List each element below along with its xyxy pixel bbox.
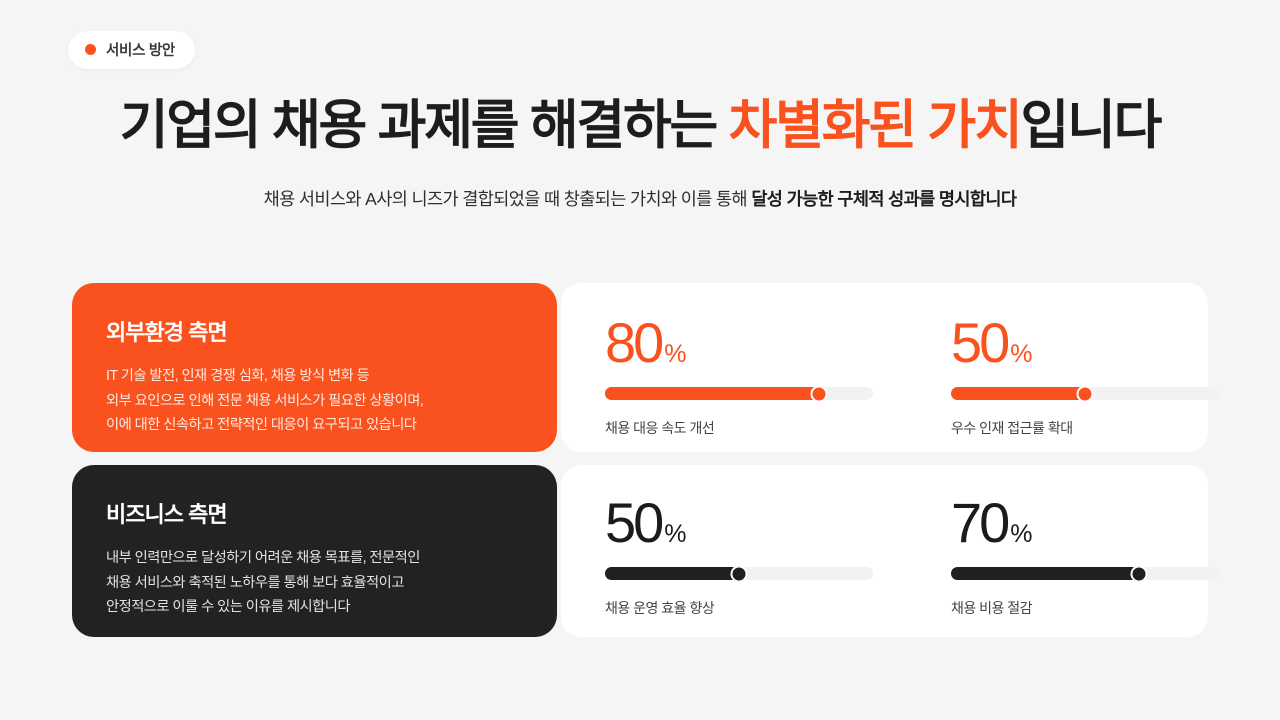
stat-label: 채용 비용 절감 bbox=[951, 598, 1219, 618]
stat-percent-symbol: % bbox=[664, 522, 685, 547]
panel-body-line: IT 기술 발전, 인재 경쟁 심화, 채용 방식 변화 등 bbox=[106, 364, 523, 389]
stat-number: 50 % bbox=[951, 315, 1219, 371]
progress-fill bbox=[605, 387, 819, 400]
panel-body: 내부 인력만으로 달성하기 어려운 채용 목표를, 전문적인 채용 서비스와 축… bbox=[106, 546, 523, 620]
stat-value: 80 bbox=[605, 315, 661, 371]
panel-body: IT 기술 발전, 인재 경쟁 심화, 채용 방식 변화 등 외부 요인으로 인… bbox=[106, 364, 523, 438]
slide-root: 서비스 방안 기업의 채용 과제를 해결하는 차별화된 가치입니다 채용 서비스… bbox=[0, 0, 1280, 720]
stat-value: 50 bbox=[951, 315, 1007, 371]
subtitle-normal: 채용 서비스와 A사의 니즈가 결합되었을 때 창출되는 가치와 이를 통해 bbox=[264, 189, 752, 209]
progress-fill bbox=[605, 567, 739, 580]
headline-highlight: 차별화된 가치 bbox=[729, 96, 1021, 155]
progress-bar bbox=[605, 387, 873, 400]
page-subtitle: 채용 서비스와 A사의 니즈가 결합되었을 때 창출되는 가치와 이를 통해 달… bbox=[0, 186, 1280, 211]
stat-item: 50 % 우수 인재 접근률 확대 bbox=[907, 283, 1253, 452]
progress-knob bbox=[1077, 385, 1094, 402]
progress-bar bbox=[951, 567, 1219, 580]
stat-label: 채용 대응 속도 개선 bbox=[605, 418, 873, 438]
progress-fill bbox=[951, 387, 1085, 400]
stat-item: 70 % 채용 비용 절감 bbox=[907, 465, 1253, 637]
panel-business: 비즈니스 측면 내부 인력만으로 달성하기 어려운 채용 목표를, 전문적인 채… bbox=[72, 465, 557, 637]
stat-number: 50 % bbox=[605, 495, 873, 551]
stat-card-top: 80 % 채용 대응 속도 개선 50 % 우수 인재 접근률 확대 bbox=[561, 283, 1208, 452]
stat-percent-symbol: % bbox=[1010, 342, 1031, 367]
badge-dot-icon bbox=[85, 44, 96, 55]
panel-body-line: 안정적으로 이룰 수 있는 이유를 제시합니다 bbox=[106, 595, 523, 620]
panel-title: 외부환경 측면 bbox=[106, 315, 523, 347]
progress-knob bbox=[731, 565, 748, 582]
stat-percent-symbol: % bbox=[1010, 522, 1031, 547]
panel-body-line: 이에 대한 신속하고 전략적인 대응이 요구되고 있습니다 bbox=[106, 413, 523, 438]
panel-title: 비즈니스 측면 bbox=[106, 497, 523, 529]
stat-label: 우수 인재 접근률 확대 bbox=[951, 418, 1219, 438]
headline-part2: 입니다 bbox=[1021, 96, 1161, 155]
panel-body-line: 채용 서비스와 축적된 노하우를 통해 보다 효율적이고 bbox=[106, 571, 523, 596]
page-title: 기업의 채용 과제를 해결하는 차별화된 가치입니다 bbox=[0, 95, 1280, 158]
progress-knob bbox=[811, 385, 828, 402]
badge-label: 서비스 방안 bbox=[106, 39, 175, 60]
progress-knob bbox=[1130, 565, 1147, 582]
progress-bar bbox=[605, 567, 873, 580]
stat-item: 50 % 채용 운영 효율 향상 bbox=[561, 465, 907, 637]
panel-external-environment: 외부환경 측면 IT 기술 발전, 인재 경쟁 심화, 채용 방식 변화 등 외… bbox=[72, 283, 557, 452]
section-badge: 서비스 방안 bbox=[68, 31, 195, 69]
panel-body-line: 내부 인력만으로 달성하기 어려운 채용 목표를, 전문적인 bbox=[106, 546, 523, 571]
stat-item: 80 % 채용 대응 속도 개선 bbox=[561, 283, 907, 452]
panel-body-line: 외부 요인으로 인해 전문 채용 서비스가 필요한 상황이며, bbox=[106, 389, 523, 414]
stat-label: 채용 운영 효율 향상 bbox=[605, 598, 873, 618]
stat-card-bottom: 50 % 채용 운영 효율 향상 70 % 채용 비용 절감 bbox=[561, 465, 1208, 637]
progress-bar bbox=[951, 387, 1219, 400]
stat-value: 50 bbox=[605, 495, 661, 551]
headline-part1: 기업의 채용 과제를 해결하는 bbox=[120, 96, 729, 155]
stat-number: 80 % bbox=[605, 315, 873, 371]
stat-value: 70 bbox=[951, 495, 1007, 551]
subtitle-strong: 달성 가능한 구체적 성과를 명시합니다 bbox=[751, 189, 1016, 209]
stat-percent-symbol: % bbox=[664, 342, 685, 367]
stat-number: 70 % bbox=[951, 495, 1219, 551]
progress-fill bbox=[951, 567, 1139, 580]
